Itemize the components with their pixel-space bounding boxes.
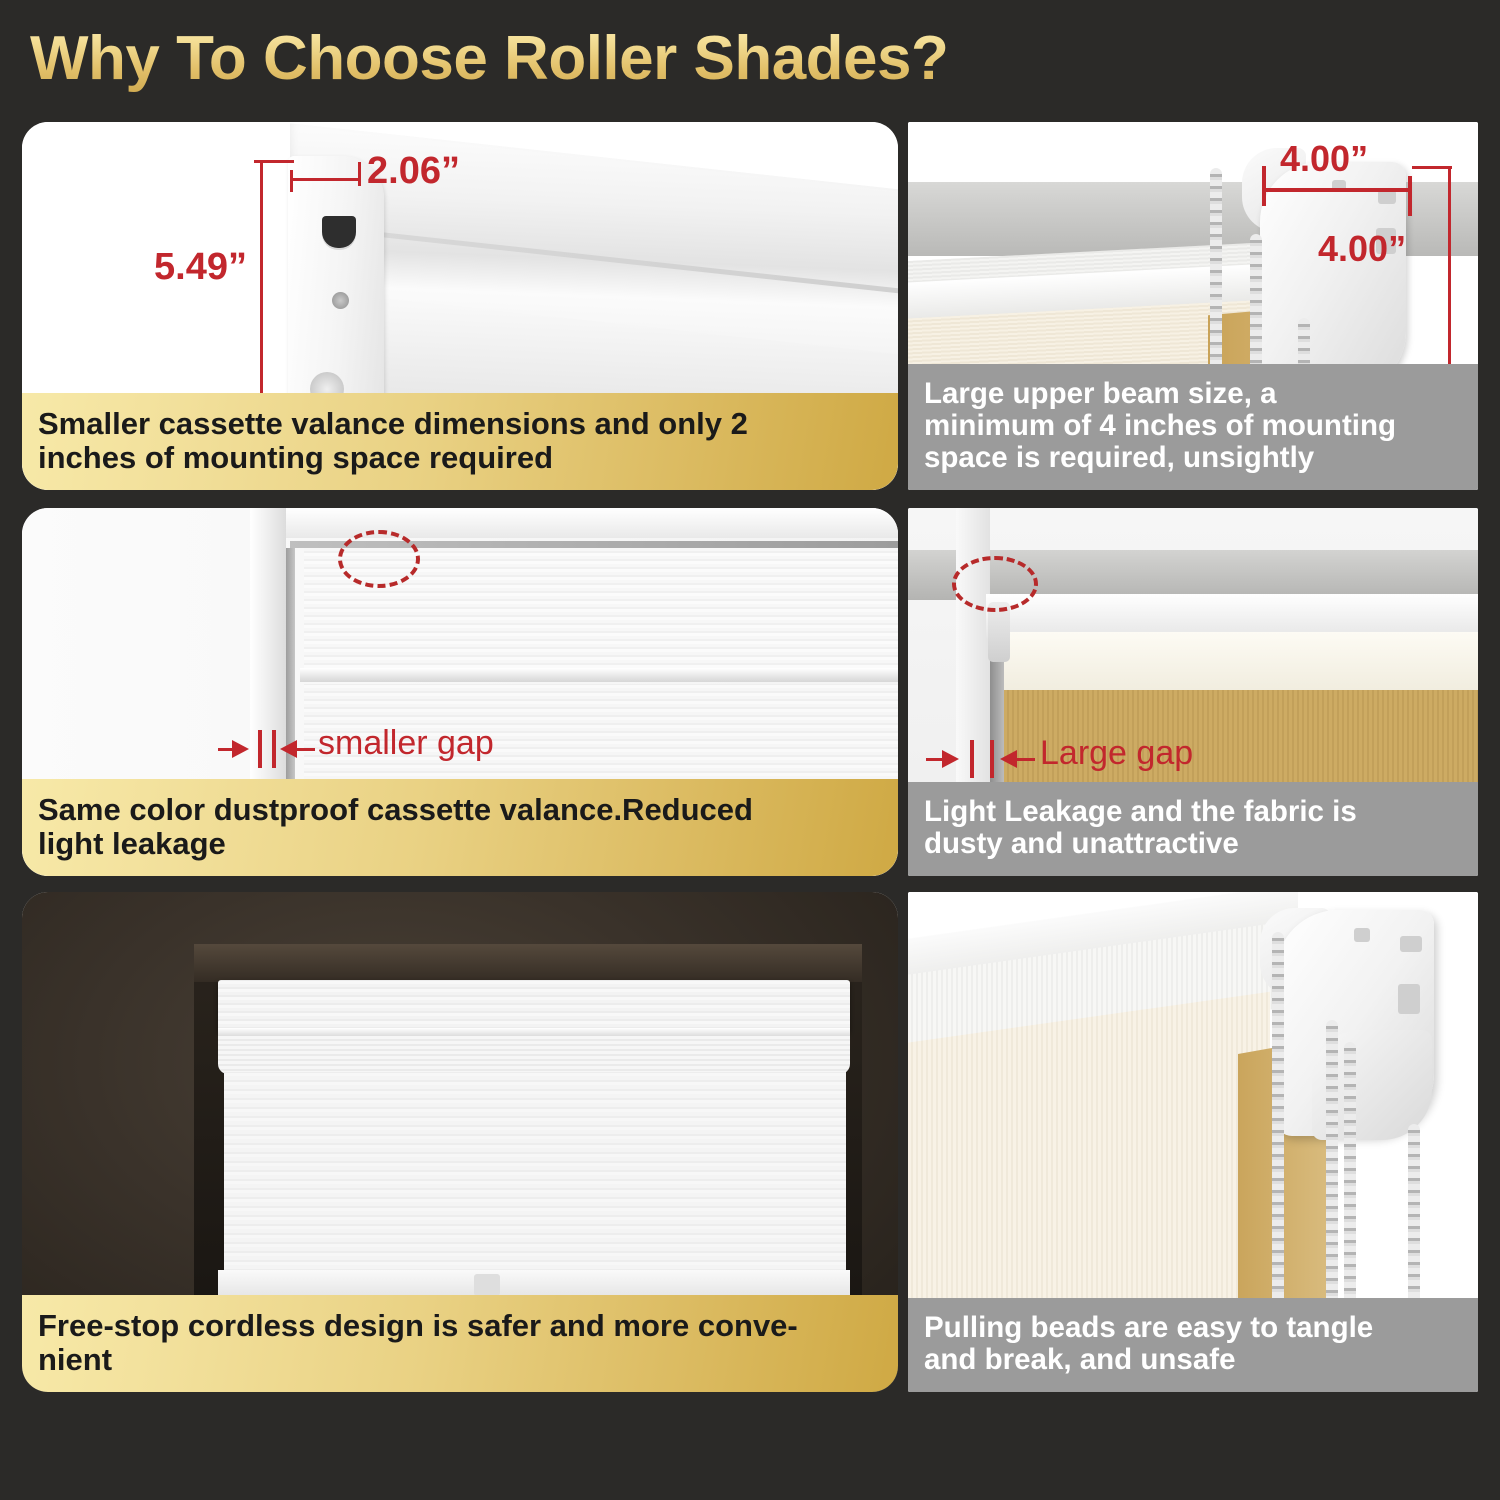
- caption-line: space is required, unsightly: [924, 442, 1462, 474]
- gap-tick-left: [970, 740, 974, 778]
- caption-line: light leakage: [38, 827, 882, 860]
- gap-arrow-left-icon: [280, 740, 297, 758]
- height-dimension-label: 5.49”: [154, 246, 247, 289]
- caption-con-beads: Pulling beads are easy to tangle and bre…: [908, 1298, 1478, 1392]
- width-dimension-label: 2.06”: [367, 150, 460, 193]
- width-dimension-tick-right: [358, 162, 361, 186]
- gap-highlight-circle-icon: [952, 556, 1038, 612]
- caption-pro-valance-size: Smaller cassette valance dimensions and …: [22, 393, 898, 490]
- caption-pro-cordless: Free-stop cordless design is safer and m…: [22, 1295, 898, 1392]
- caption-line: Light Leakage and the fabric is: [924, 796, 1462, 828]
- caption-pro-small-gap: Same color dustproof cassette valance.Re…: [22, 779, 898, 876]
- width-dimension-tick-left: [290, 170, 293, 192]
- gap-arrow-tail: [926, 758, 944, 761]
- caption-line: Large upper beam size, a: [924, 378, 1462, 410]
- caption-line: Free-stop cordless design is safer and m…: [38, 1309, 882, 1342]
- panel-pro-small-gap: smaller gap Same color dustproof cassett…: [22, 508, 898, 876]
- panel-con-beads: Pulling beads are easy to tangle and bre…: [908, 892, 1478, 1392]
- caption-con-beam-size: Large upper beam size, a minimum of 4 in…: [908, 364, 1478, 490]
- caption-line: inches of mounting space required: [38, 441, 882, 474]
- caption-line: dusty and unattractive: [924, 828, 1462, 860]
- gap-tick-left: [258, 730, 262, 768]
- gap-arrow-tail: [1017, 758, 1035, 761]
- caption-line: and break, and unsafe: [924, 1344, 1462, 1376]
- width-dimension-tick-right: [1408, 176, 1412, 216]
- width-dimension-line: [1264, 188, 1412, 192]
- gap-label: Large gap: [1040, 734, 1193, 773]
- caption-line: Same color dustproof cassette valance.Re…: [38, 793, 882, 826]
- height-dimension-line: [260, 160, 263, 412]
- gap-label: smaller gap: [318, 724, 494, 763]
- caption-line: Pulling beads are easy to tangle: [924, 1312, 1462, 1344]
- gap-tick-right: [990, 740, 994, 778]
- gap-arrow-right-icon: [942, 750, 959, 768]
- gap-arrow-tail: [218, 748, 236, 751]
- gap-arrow-left-icon: [1000, 750, 1017, 768]
- caption-con-large-gap: Light Leakage and the fabric is dusty an…: [908, 782, 1478, 876]
- width-dimension-line: [290, 178, 360, 181]
- panel-con-large-gap: Large gap Light Leakage and the fabric i…: [908, 508, 1478, 876]
- gap-tick-right: [272, 730, 276, 768]
- width-dimension-tick-left: [1262, 166, 1266, 206]
- bead-chain: [1272, 932, 1284, 1344]
- height-dimension-tick-top: [1412, 166, 1452, 169]
- panel-con-beam-size: 4.00” 4.00” Large upper beam size, a min…: [908, 122, 1478, 490]
- caption-line: nient: [38, 1343, 882, 1376]
- panel-pro-valance-size: 5.49” 2.06” Smaller cassette valance dim…: [22, 122, 898, 490]
- title-bar: Why To Choose Roller Shades?: [30, 16, 1230, 102]
- gap-arrow-tail: [297, 748, 315, 751]
- panel-pro-cordless: Free-stop cordless design is safer and m…: [22, 892, 898, 1392]
- caption-line: minimum of 4 inches of mounting: [924, 410, 1462, 442]
- height-dimension-tick-top: [254, 160, 294, 163]
- page-title: Why To Choose Roller Shades?: [30, 16, 1230, 102]
- gap-highlight-circle-icon: [338, 530, 420, 588]
- width-dimension-label: 4.00”: [1280, 138, 1368, 180]
- height-dimension-label: 4.00”: [1318, 228, 1406, 270]
- caption-line: Smaller cassette valance dimensions and …: [38, 407, 882, 440]
- pull-tab: [474, 1274, 500, 1296]
